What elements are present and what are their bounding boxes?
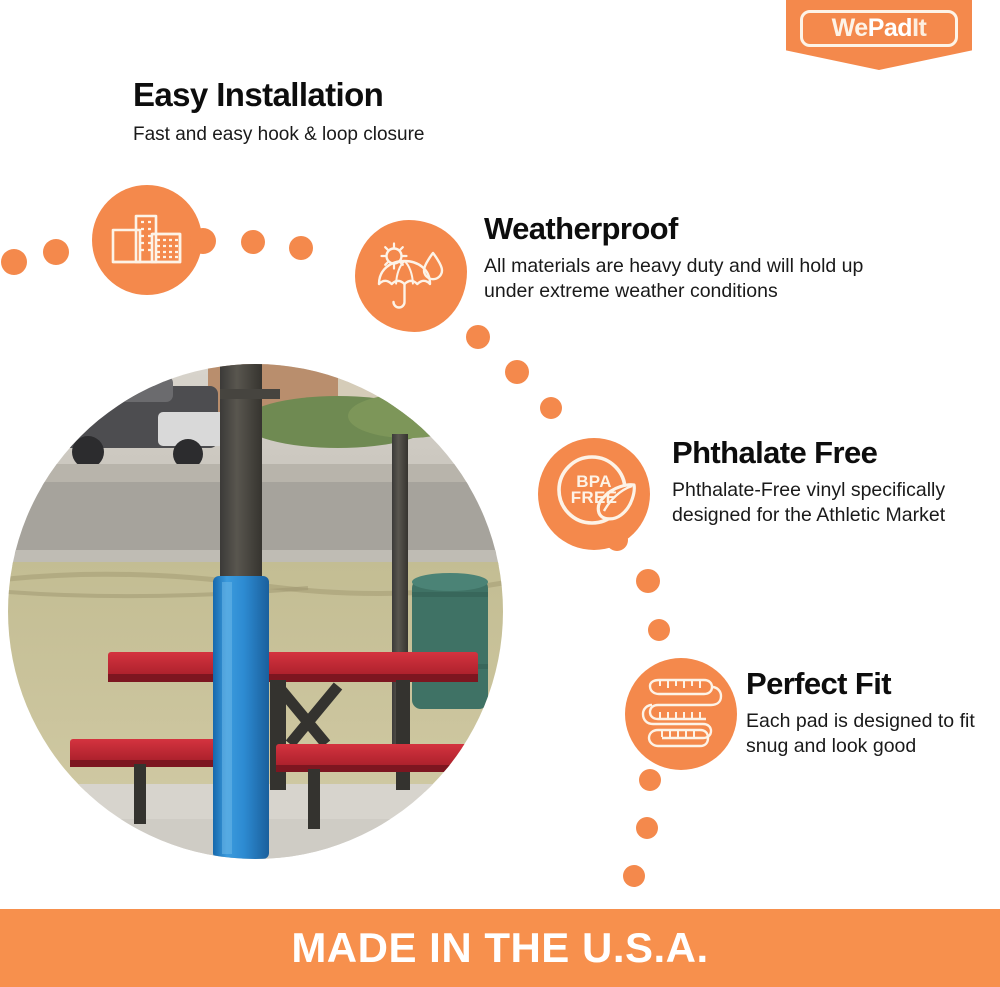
feature-block-weatherproof: Weatherproof All materials are heavy dut… [484, 213, 914, 305]
made-in-usa-banner: MADE IN THE U.S.A. [0, 909, 1000, 987]
product-photo [8, 364, 503, 859]
logo-text-pad: Pad [868, 14, 912, 42]
feature-block-perfect-fit: Perfect Fit Each pad is designed to fit … [746, 668, 986, 760]
trail-dot [636, 569, 660, 593]
trail-dot [648, 619, 670, 641]
feature-title-phthalate-free: Phthalate Free [672, 437, 972, 470]
trail-dot [289, 236, 313, 260]
logo-text-we: We [832, 14, 868, 42]
trail-dot [623, 865, 645, 887]
brand-logo[interactable]: WePadIt [786, 0, 972, 70]
feature-description-perfect-fit: Each pad is designed to fit snug and loo… [746, 709, 986, 760]
bpa-free-leaf-icon: BPA FREE [538, 438, 650, 550]
trail-dot [43, 239, 69, 265]
measuring-tape-icon [625, 658, 737, 770]
trail-dot [241, 230, 265, 254]
feature-description-phthalate-free: Phthalate-Free vinyl specifically design… [672, 478, 972, 529]
trail-dot [636, 817, 658, 839]
trail-dot [639, 769, 661, 791]
product-photo-image [8, 364, 503, 859]
trail-dot [540, 397, 562, 419]
made-in-usa-text: MADE IN THE U.S.A. [291, 927, 708, 969]
feature-block-phthalate-free: Phthalate Free Phthalate-Free vinyl spec… [672, 437, 972, 529]
feature-description-easy-installation: Fast and easy hook & loop closure [133, 122, 593, 147]
trail-dot [606, 529, 628, 551]
trail-dot [466, 325, 490, 349]
infographic-page: WePadIt Easy Installation Fast and easy … [0, 0, 1000, 987]
trail-dot [190, 228, 216, 254]
trail-dot [505, 360, 529, 384]
feature-title-weatherproof: Weatherproof [484, 213, 914, 246]
logo-text-it: It [912, 14, 926, 42]
feature-title-perfect-fit: Perfect Fit [746, 668, 986, 701]
feature-block-easy-installation: Easy Installation Fast and easy hook & l… [133, 78, 593, 147]
feature-title-easy-installation: Easy Installation [133, 78, 593, 113]
logo-text: WePadIt [832, 16, 927, 41]
umbrella-sun-raindrop-icon [355, 220, 467, 332]
logo-outline-box: WePadIt [800, 10, 958, 47]
feature-description-weatherproof: All materials are heavy duty and will ho… [484, 254, 914, 305]
trail-dot [1, 249, 27, 275]
building-icon [92, 185, 202, 295]
